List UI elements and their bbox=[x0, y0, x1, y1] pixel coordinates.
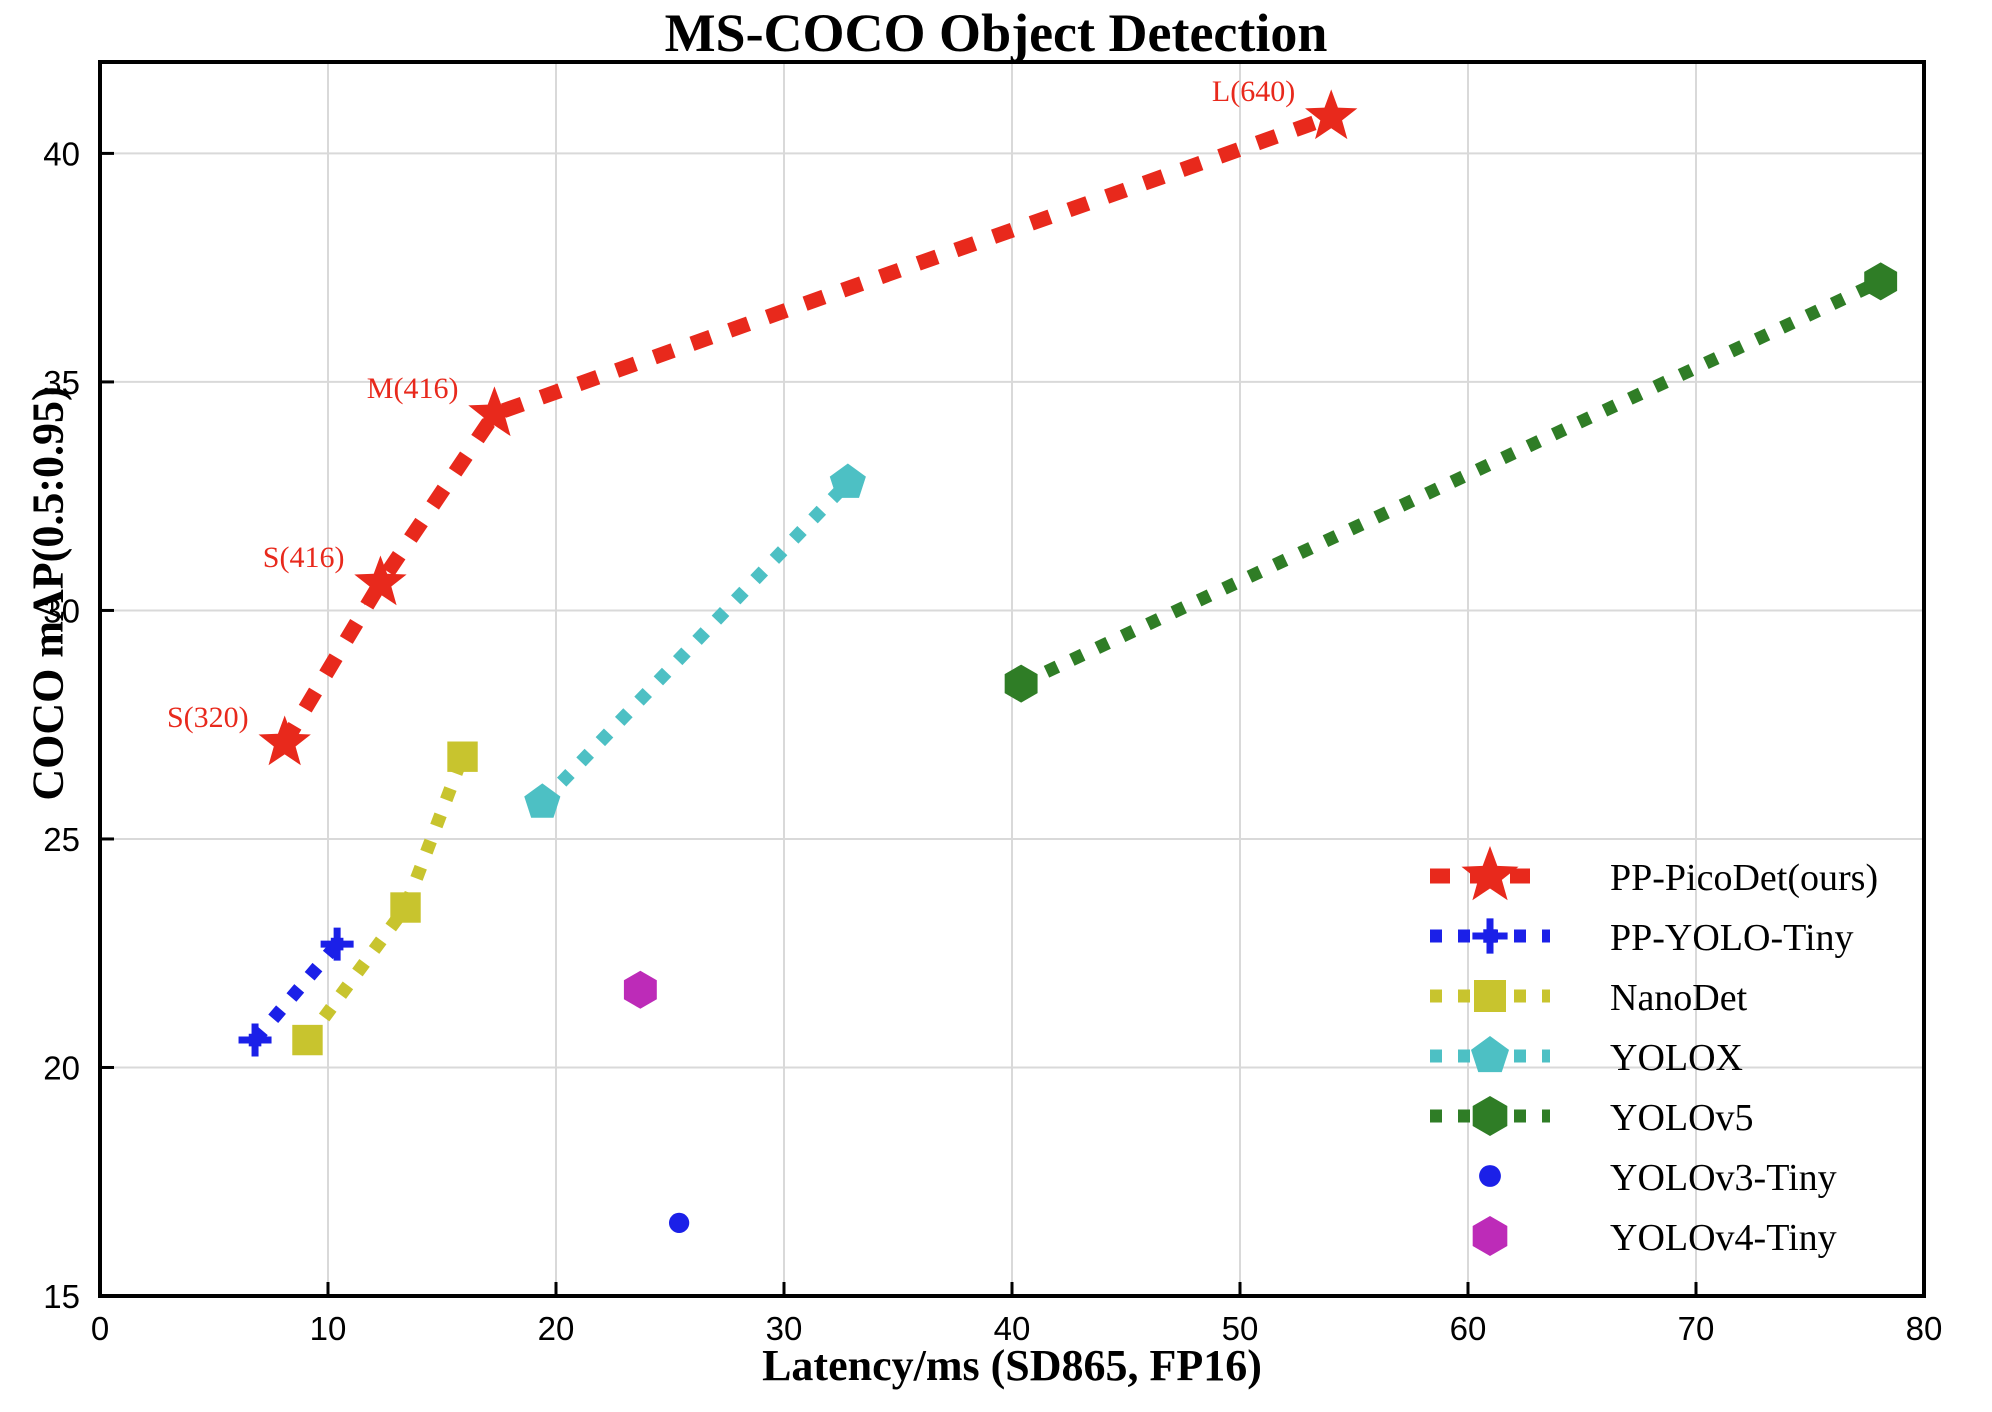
point-annotation: S(320) bbox=[167, 701, 249, 734]
data-point-marker bbox=[259, 715, 311, 765]
data-point-marker bbox=[239, 1024, 272, 1057]
legend-label: YOLOX bbox=[1610, 1037, 1743, 1079]
legend-item-nanodet[interactable]: NanoDet bbox=[1430, 977, 1748, 1019]
data-point-marker bbox=[390, 892, 420, 922]
data-point-marker bbox=[321, 928, 354, 961]
series-pp-picodet-ours bbox=[259, 89, 1358, 765]
data-point-marker bbox=[1473, 1096, 1508, 1136]
data-point-marker bbox=[1473, 1216, 1508, 1256]
x-tick-label: 40 bbox=[994, 1310, 1031, 1347]
data-point-marker bbox=[830, 463, 866, 497]
data-point-marker bbox=[1461, 846, 1518, 900]
data-point-marker bbox=[1864, 262, 1897, 300]
data-point-marker bbox=[669, 1213, 689, 1233]
y-tick-label: 25 bbox=[43, 821, 80, 858]
data-point-marker bbox=[1479, 1165, 1501, 1187]
x-tick-label: 10 bbox=[310, 1310, 347, 1347]
data-point-marker bbox=[524, 783, 560, 817]
legend-item-yolov5[interactable]: YOLOv5 bbox=[1430, 1096, 1754, 1139]
legend-label: PP-YOLO-Tiny bbox=[1610, 917, 1854, 959]
chart-plot-area: 01020304050607080152025303540 S(320)S(41… bbox=[0, 0, 1992, 1412]
legend-item-pp-yolo-tiny[interactable]: PP-YOLO-Tiny bbox=[1430, 917, 1854, 959]
legend-label: YOLOv4-Tiny bbox=[1610, 1217, 1837, 1259]
x-tick-label: 60 bbox=[1450, 1310, 1487, 1347]
data-point-marker bbox=[1305, 89, 1357, 139]
series-line bbox=[307, 757, 462, 1040]
series-nanodet bbox=[292, 741, 477, 1055]
data-point-marker bbox=[1471, 1036, 1509, 1072]
x-tick-label: 80 bbox=[1906, 1310, 1943, 1347]
x-tick-label: 50 bbox=[1222, 1310, 1259, 1347]
x-tick-label: 0 bbox=[91, 1310, 109, 1347]
legend-item-yolox[interactable]: YOLOX bbox=[1430, 1036, 1743, 1079]
data-point-marker bbox=[292, 1025, 322, 1055]
data-point-marker bbox=[1474, 980, 1506, 1012]
series-yolox bbox=[524, 463, 866, 817]
series-line bbox=[285, 117, 1332, 743]
chart-page: MS-COCO Object Detection COCO mAP(0.5:0.… bbox=[0, 0, 1992, 1412]
y-tick-label: 35 bbox=[43, 364, 80, 401]
series-line bbox=[542, 482, 848, 802]
data-point-marker bbox=[447, 741, 477, 771]
series-yolov5 bbox=[1005, 262, 1897, 702]
data-point-marker bbox=[1005, 665, 1038, 703]
data-point-marker bbox=[1472, 918, 1507, 953]
point-annotation: L(640) bbox=[1212, 75, 1295, 108]
series-yolov4-tiny bbox=[624, 971, 657, 1009]
x-tick-label: 20 bbox=[538, 1310, 575, 1347]
legend-label: YOLOv3-Tiny bbox=[1610, 1157, 1837, 1199]
legend-item-yolov3-tiny[interactable]: YOLOv3-Tiny bbox=[1479, 1157, 1837, 1199]
y-tick-label: 30 bbox=[43, 592, 80, 629]
legend-item-pp-picodet-ours[interactable]: PP-PicoDet(ours) bbox=[1430, 846, 1878, 900]
legend-label: PP-PicoDet(ours) bbox=[1610, 857, 1878, 899]
point-annotation: M(416) bbox=[367, 372, 459, 405]
legend-label: YOLOv5 bbox=[1610, 1097, 1754, 1139]
y-tick-label: 40 bbox=[43, 135, 80, 172]
legend-item-yolov4-tiny[interactable]: YOLOv4-Tiny bbox=[1473, 1216, 1837, 1259]
legend: PP-PicoDet(ours)PP-YOLO-TinyNanoDetYOLOX… bbox=[1430, 846, 1878, 1259]
series-yolov3-tiny bbox=[669, 1213, 689, 1233]
x-tick-label: 30 bbox=[766, 1310, 803, 1347]
data-point-marker bbox=[624, 971, 657, 1009]
series-line bbox=[1021, 281, 1881, 683]
x-tick-label: 70 bbox=[1678, 1310, 1715, 1347]
legend-label: NanoDet bbox=[1610, 977, 1748, 1019]
y-tick-label: 20 bbox=[43, 1049, 80, 1086]
point-annotation: S(416) bbox=[263, 541, 345, 574]
y-tick-label: 15 bbox=[43, 1278, 80, 1315]
